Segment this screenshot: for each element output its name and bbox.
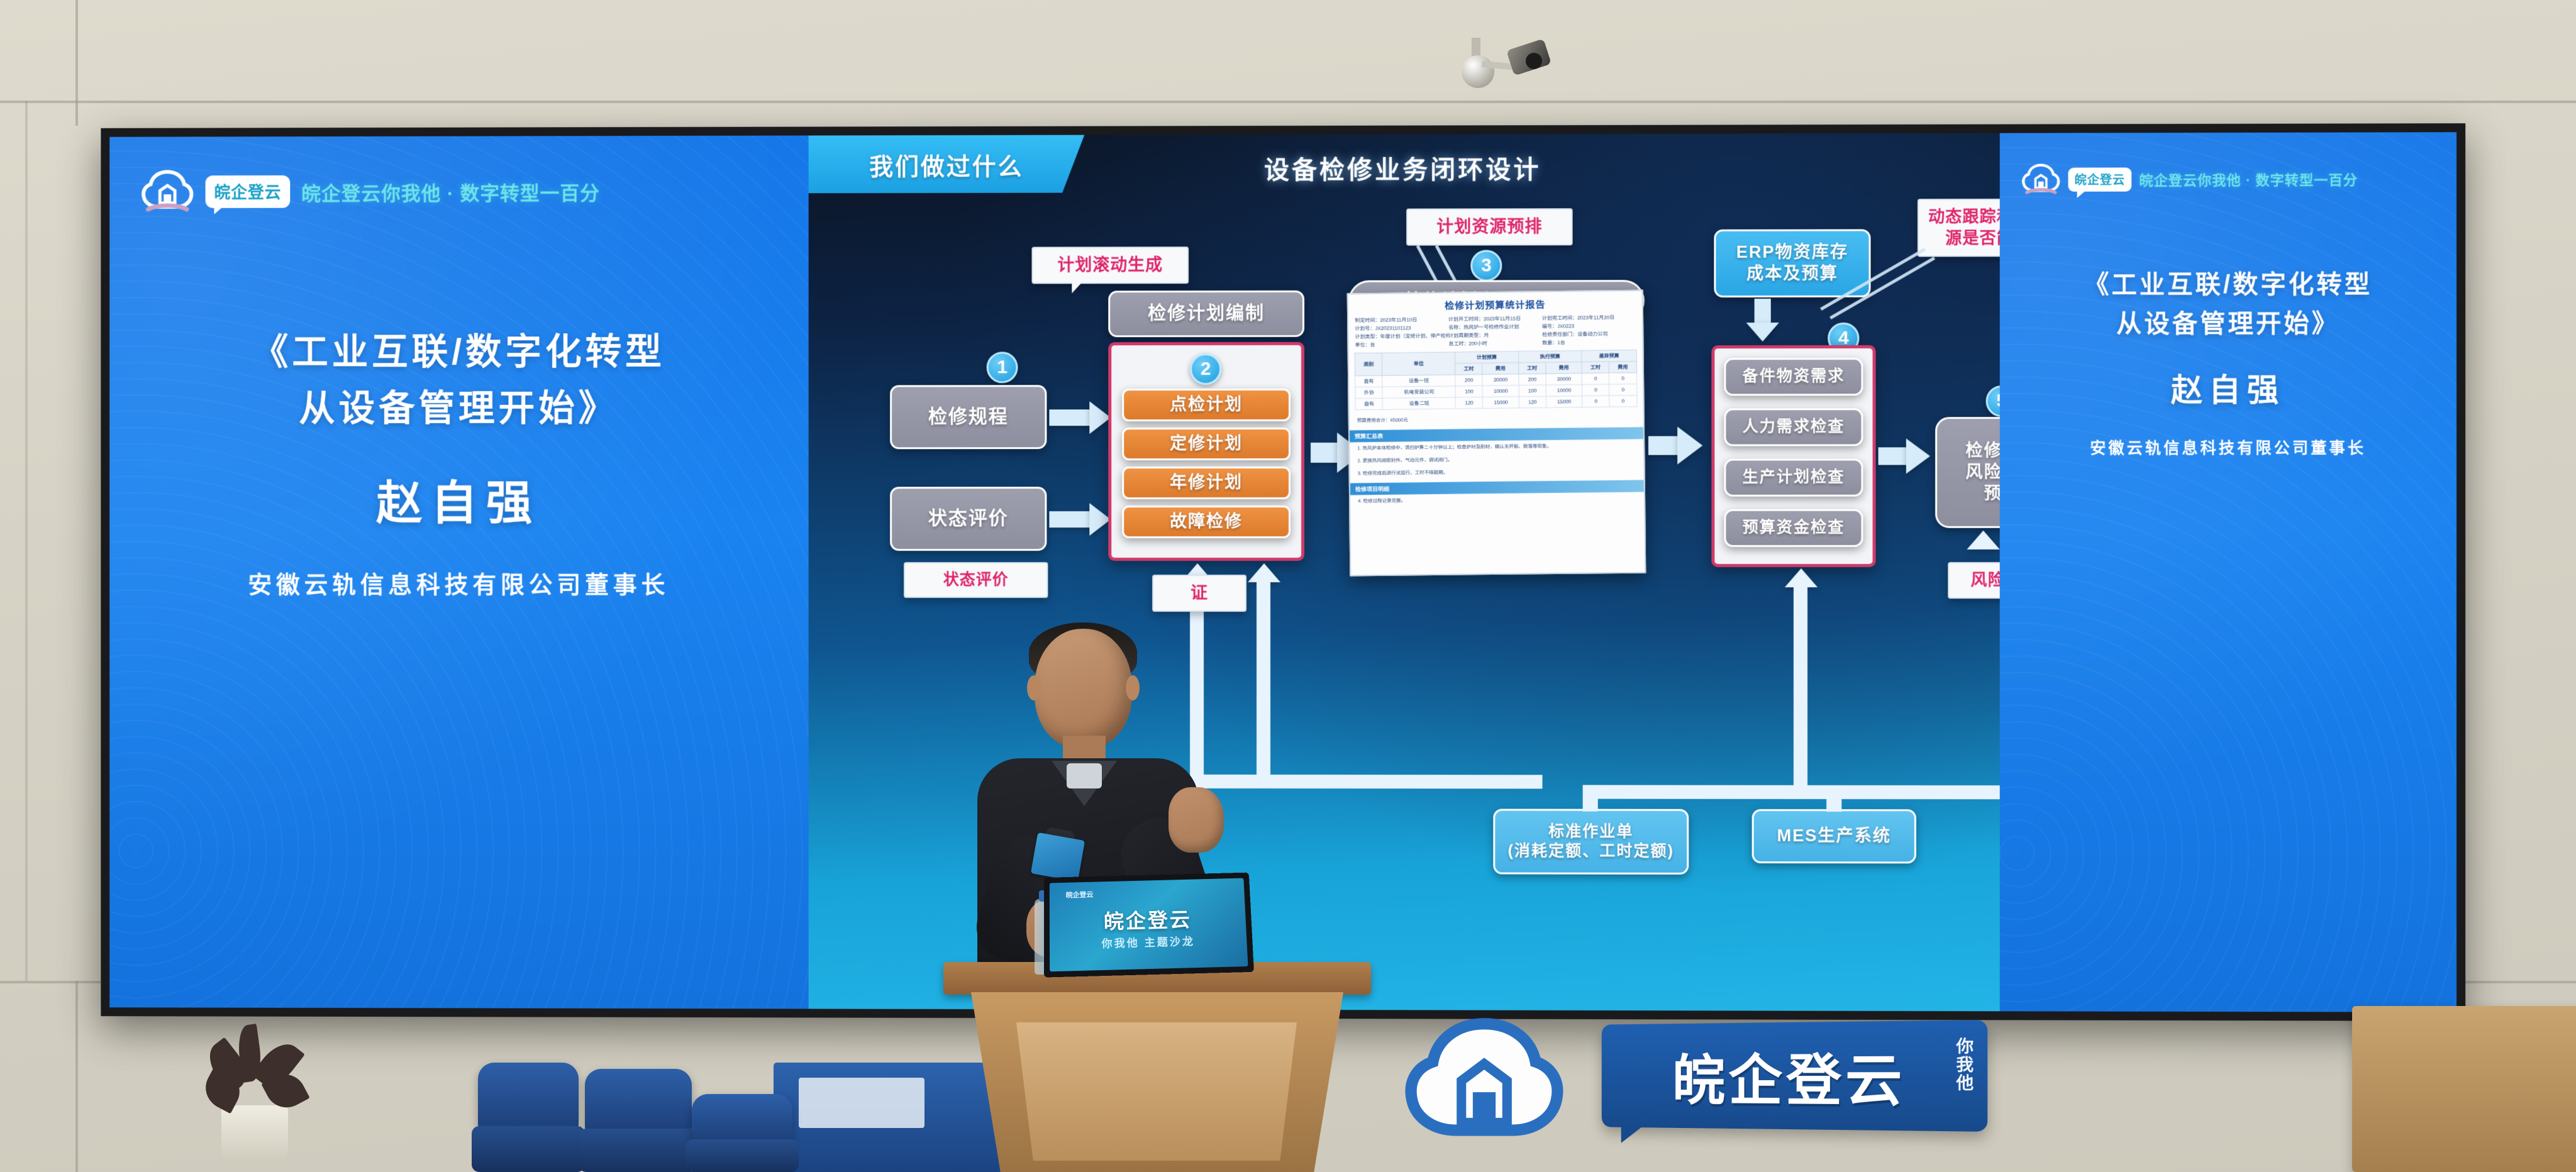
presenter-laptop: 皖企登云 皖企登云 你我他 主题沙龙 <box>1044 873 1254 978</box>
report-meta-item: 计划号：JX20231101123 <box>1355 324 1448 332</box>
speaker-name: 赵自强 <box>109 465 808 533</box>
report-title: 检修计划预算统计报告 <box>1348 291 1642 317</box>
flow-arrow <box>1648 436 1680 455</box>
brand-bar-right: 皖企登云 皖企登云你我他 · 数字转型一百分 <box>2021 163 2431 196</box>
report-cell: 自有 <box>1355 375 1382 387</box>
report-meta-item: 计划完工时间：2023年11月20日 <box>1542 314 1636 322</box>
report-table: 类别 单位 计划预算 执行预算 差异预算 工时 费用 工时 费用 工时 费用 <box>1355 350 1637 410</box>
report-cell: 设备二班 <box>1382 397 1455 409</box>
report-cell: 0 <box>1582 395 1609 407</box>
title-line-1: 《工业互联/数字化转型 <box>109 324 808 381</box>
node-manpower-check: 人力需求检查 <box>1724 408 1863 446</box>
security-camera-icon <box>1446 38 1528 94</box>
report-meta-item: 计划类型：年度计划（定修计划、停产检修） <box>1355 332 1448 340</box>
report-cell: 120 <box>1519 396 1546 408</box>
report-cell: 10000 <box>1482 385 1519 397</box>
report-note: 4. 检修过程记录完整。 <box>1350 492 1644 507</box>
report-cell: 0 <box>1609 373 1637 385</box>
report-cell: 0 <box>1609 395 1637 407</box>
report-col-header: 类别 <box>1355 353 1383 376</box>
node-inspection-procedure: 检修规程 <box>890 385 1046 449</box>
report-cell: 10000 <box>1546 385 1582 397</box>
report-cell: 0 <box>1582 373 1609 385</box>
flow-arrow-head <box>1967 531 1999 550</box>
node-budget-funds-check: 预算资金检查 <box>1724 509 1863 547</box>
node-scheduled-repair-plan: 定修计划 <box>1122 428 1291 460</box>
flow-arrow <box>1257 581 1270 788</box>
wall-brand-sign: 皖企登云 你我他 <box>1402 1000 2088 1172</box>
node-annual-repair-plan: 年修计划 <box>1122 467 1291 499</box>
report-sub-header: 费用 <box>1482 363 1519 375</box>
report-cell: 20000 <box>1482 374 1519 386</box>
report-sub-header: 工时 <box>1582 362 1609 373</box>
wall-seam <box>0 101 2576 103</box>
right-title-panel: 皖企登云 皖企登云你我他 · 数字转型一百分 《工业互联/数字化转型 从设备管理… <box>2000 132 2457 1012</box>
right-panel-title-block: 《工业互联/数字化转型 从设备管理开始》 赵自强 安徽云轨信息科技有限公司董事长 <box>2000 265 2457 458</box>
left-title-panel: 皖企登云 皖企登云你我他 · 数字转型一百分 《工业互联/数字化转型 从设备管理… <box>109 136 808 1009</box>
report-meta: 制定时间：2023年11月10日 计划开工时间：2023年11月15日 计划完工… <box>1348 314 1642 348</box>
report-cell: 200 <box>1519 373 1546 385</box>
chair <box>585 1069 692 1172</box>
report-sub-header: 工时 <box>1519 362 1546 374</box>
node-erp-inventory-budget: ERP物资库存 成本及预算 <box>1714 229 1870 298</box>
flow-arrow-head <box>1906 438 1930 473</box>
slide-title: 设备检修业务闭环设计 <box>809 148 2000 187</box>
report-cell: 机电安装公司 <box>1382 386 1455 398</box>
brand-tagline: 皖企登云你我他 · 数字转型一百分 <box>2139 169 2358 190</box>
node-spare-parts-demand: 备件物资需求 <box>1724 358 1863 395</box>
left-panel-title-block: 《工业互联/数字化转型 从设备管理开始》 赵自强 安徽云轨信息科技有限公司董事长 <box>109 324 808 600</box>
node-production-plan-check: 生产计划检查 <box>1724 459 1863 497</box>
report-cell: 100 <box>1455 385 1482 397</box>
callout-condition-assessment: 状态评价 <box>904 562 1048 597</box>
chair <box>478 1063 579 1172</box>
conference-room-background: 皖企登云 皖企登云你我他 · 数字转型一百分 《工业互联/数字化转型 从设备管理… <box>0 0 2576 1172</box>
step-number-3: 3 <box>1470 250 1502 281</box>
report-cell: 200 <box>1455 374 1482 386</box>
node-standard-work-order: 标准作业单 (消耗定额、工时定额) <box>1493 809 1689 875</box>
potted-plant-icon <box>189 1019 321 1163</box>
flow-arrow-head <box>1746 323 1779 341</box>
report-sub-header: 工时 <box>1455 363 1482 375</box>
brand-tagline: 皖企登云你我他 · 数字转型一百分 <box>301 177 600 206</box>
report-cell: 0 <box>1609 384 1637 396</box>
logo-badge: 皖企登云 <box>206 175 291 208</box>
wall-seam <box>75 981 78 1172</box>
flow-arrow <box>1311 443 1340 463</box>
step-number-2: 2 <box>1190 353 1221 385</box>
brand-bar-left: 皖企登云 皖企登云你我他 · 数字转型一百分 <box>141 168 784 214</box>
report-meta-item: 总工时：200小时 <box>1448 340 1542 348</box>
logo-badge: 皖企登云 <box>2068 167 2131 191</box>
node-maintenance-plan-compile: 检修计划编制 <box>1108 290 1304 337</box>
report-meta-item: 计划开工时间：2023年11月15日 <box>1448 315 1542 323</box>
flow-arrow <box>1049 511 1091 528</box>
report-cell: 自有 <box>1355 398 1382 409</box>
report-sub-header: 费用 <box>1546 362 1582 374</box>
flow-arrow-head <box>1089 401 1111 434</box>
report-col-header: 单位 <box>1382 352 1455 375</box>
flow-arrow <box>1755 299 1771 325</box>
node-risk-analysis-alert: 检修资源 风险分析 预警 <box>1935 417 2000 528</box>
speaker-name: 赵自强 <box>2000 365 2457 411</box>
speaker-affiliation: 安徽云轨信息科技有限公司董事长 <box>109 565 808 600</box>
step-number-1: 1 <box>987 351 1018 383</box>
report-meta-item: 计划周期类型：月 <box>1448 331 1542 340</box>
callout-verification: 证 <box>1152 575 1246 612</box>
report-meta-item: 制定时间：2023年11月10日 <box>1355 316 1448 324</box>
callout-tail <box>1072 274 1089 293</box>
node-fault-repair: 故障检修 <box>1122 506 1291 538</box>
report-meta-item: 编号：JX0223 <box>1542 322 1636 330</box>
report-cell: 120 <box>1455 397 1482 409</box>
laptop-logo: 皖企登云 <box>1066 889 1094 900</box>
wall-sign-plate: 皖企登云 你我他 <box>1602 1020 1988 1132</box>
report-col-header: 计划预算 <box>1455 351 1519 363</box>
wall-seam <box>75 0 78 126</box>
budget-report-screenshot: 检修计划预算统计报告 制定时间：2023年11月10日 计划开工时间：2023年… <box>1347 290 1646 577</box>
cloud-house-logo-icon <box>2021 163 2060 196</box>
flow-connector <box>1190 775 1542 789</box>
report-col-header: 执行预算 <box>1518 351 1582 363</box>
step-number-5: 5 <box>1986 385 2000 417</box>
report-cell: 15000 <box>1546 396 1582 408</box>
report-sub-header: 费用 <box>1609 362 1637 373</box>
laptop-screen: 皖企登云 皖企登云 你我他 主题沙龙 <box>1050 878 1248 972</box>
title-line-1: 《工业互联/数字化转型 <box>2000 265 2457 304</box>
report-cell: 100 <box>1519 385 1546 397</box>
flow-arrow-head <box>1677 427 1702 465</box>
led-video-wall: 皖企登云 皖企登云你我他 · 数字转型一百分 《工业互联/数字化转型 从设备管理… <box>101 123 2465 1021</box>
speaker-affiliation: 安徽云轨信息科技有限公司董事长 <box>2000 436 2457 459</box>
report-meta-item: 数量：1台 <box>1542 338 1636 346</box>
report-cell: 0 <box>1582 384 1609 396</box>
podium <box>943 962 1371 1172</box>
wall-sign-subtext: 你我他 <box>1951 1037 1977 1092</box>
report-meta-item: 检修责任部门：设备动力公司 <box>1542 330 1636 338</box>
node-spot-check-plan: 点检计划 <box>1122 389 1291 421</box>
node-mes-production-system: MES生产系统 <box>1752 809 1916 864</box>
report-meta-item: 名称：热风炉一号检修作业计划 <box>1448 323 1542 331</box>
callout-plan-rolling: 计划滚动生成 <box>1031 246 1189 284</box>
report-cell: 设备一班 <box>1382 375 1455 387</box>
flow-arrow <box>1049 409 1091 426</box>
flow-connector <box>1794 586 1807 787</box>
flow-arrow <box>1879 447 1909 465</box>
cloud-house-logo-icon <box>1402 1006 1566 1163</box>
report-cell: 20000 <box>1546 373 1582 385</box>
title-line-2: 从设备管理开始》 <box>109 380 808 437</box>
flow-arrow-head <box>1089 503 1111 536</box>
callout-risk-warning: 风险提示 <box>1948 562 2000 599</box>
wall-seam <box>25 101 28 981</box>
report-meta-item: 单位：台 <box>1355 340 1448 348</box>
report-note: 3. 检修完成后进行试运行，工时不得超期。 <box>1350 464 1644 480</box>
callout-dynamic-tracking: 动态跟踪和检查资 源是否能保障 <box>1918 199 2000 257</box>
flow-arrow-head <box>1248 563 1280 582</box>
chair <box>692 1094 792 1172</box>
callout-resource-prescheduling: 计划资源预排 <box>1406 208 1573 246</box>
report-total: 预算费用合计：45000元 <box>1350 411 1643 427</box>
report-row: 自有 设备二班 120 15000 120 15000 0 0 <box>1355 395 1636 410</box>
flow-connector <box>1583 785 2000 799</box>
report-col-header: 差异预算 <box>1582 350 1636 362</box>
report-cell: 外协 <box>1355 387 1382 398</box>
laptop-headline: 皖企登云 <box>1050 902 1246 936</box>
flow-arrow-head <box>1785 568 1818 587</box>
report-cell: 15000 <box>1483 397 1519 409</box>
side-table-right <box>2352 1006 2576 1172</box>
title-line-2: 从设备管理开始》 <box>2000 304 2457 344</box>
wall-sign-text: 皖企登云 <box>1672 1035 1906 1117</box>
node-condition-assessment: 状态评价 <box>890 487 1046 551</box>
cloud-house-logo-icon <box>141 169 194 214</box>
